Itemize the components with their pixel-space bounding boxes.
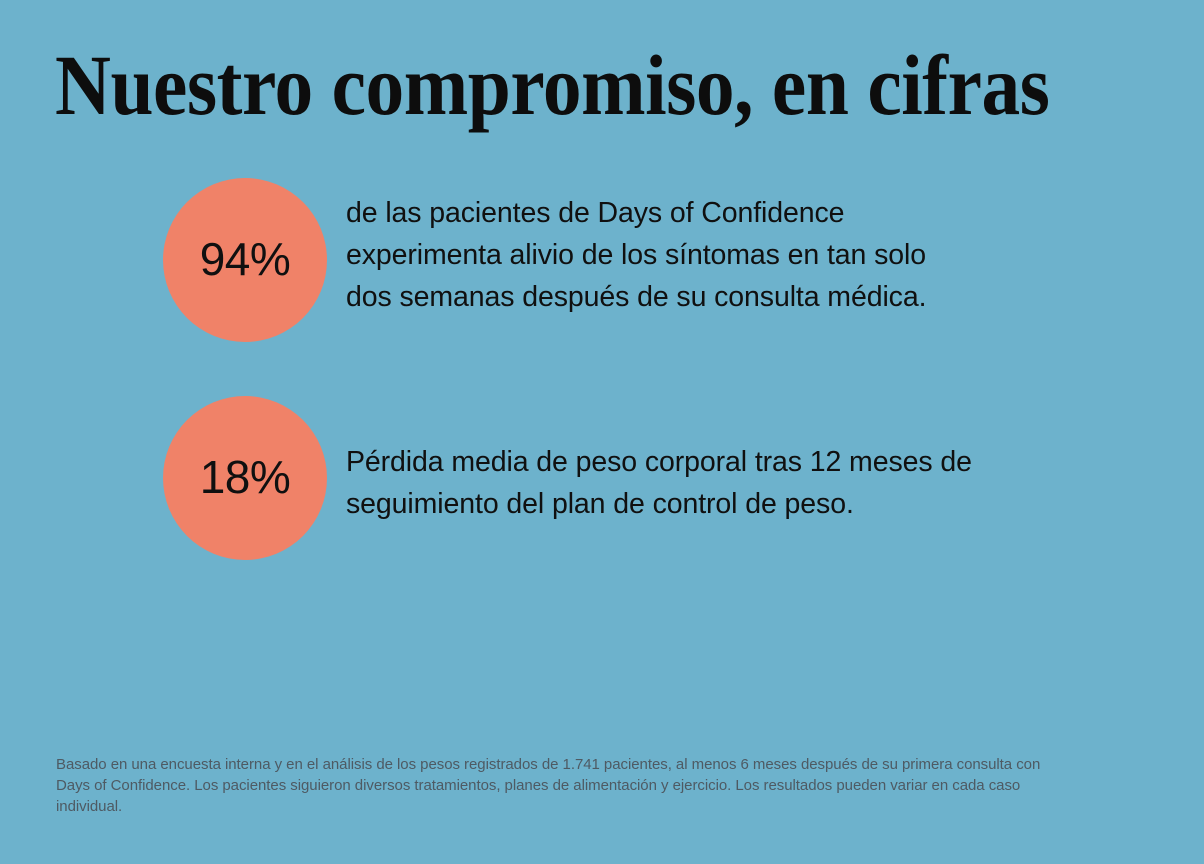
- stat-description: de las pacientes de Days of Confidence e…: [346, 178, 1106, 318]
- stat-description: Pérdida media de peso corporal tras 12 m…: [346, 396, 1106, 525]
- stats-infographic: Nuestro compromiso, en cifras 94% de las…: [0, 0, 1204, 864]
- stat-row: 18% Pérdida media de peso corporal tras …: [0, 396, 1204, 560]
- footnote-line: Basado en una encuesta interna y en el a…: [56, 755, 1154, 776]
- footnote-line: individual.: [56, 797, 1154, 818]
- stat-description-line: Pérdida media de peso corporal tras 12 m…: [346, 441, 1106, 483]
- stat-circle-icon: 94%: [163, 178, 327, 342]
- footnote-line: Days of Confidence. Los pacientes siguie…: [56, 776, 1154, 797]
- stat-row: 94% de las pacientes de Days of Confiden…: [0, 178, 1204, 342]
- stat-description-line: experimenta alivio de los síntomas en ta…: [346, 234, 1106, 276]
- stat-value: 94%: [200, 236, 291, 282]
- stat-description-line: dos semanas después de su consulta médic…: [346, 276, 1106, 318]
- page-title: Nuestro compromiso, en cifras: [55, 42, 1045, 128]
- stat-description-line: seguimiento del plan de control de peso.: [346, 483, 1106, 525]
- stat-value: 18%: [200, 454, 291, 500]
- stat-circle-icon: 18%: [163, 396, 327, 560]
- stat-description-line: de las pacientes de Days of Confidence: [346, 192, 1106, 234]
- footnote-disclaimer: Basado en una encuesta interna y en el a…: [56, 755, 1154, 817]
